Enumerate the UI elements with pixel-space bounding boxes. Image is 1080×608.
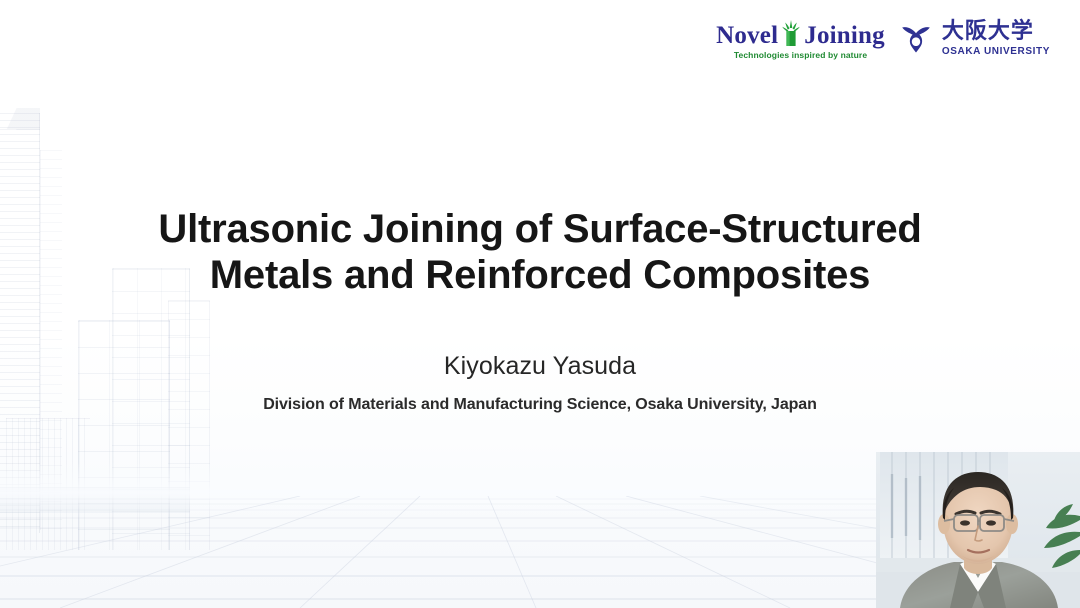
slide-title-line-1: Ultrasonic Joining of Surface-Structured — [90, 206, 990, 252]
osaka-university-name-jp: 大阪大学 — [942, 21, 1050, 43]
osaka-university-wordmark: 大阪大学 OSAKA UNIVERSITY — [942, 21, 1050, 57]
slide-title-line-2: Metals and Reinforced Composites — [90, 252, 990, 298]
novel-joining-word-left: Novel — [716, 23, 778, 48]
slide-title: Ultrasonic Joining of Surface-Structured… — [90, 206, 990, 299]
building-mid-slim — [168, 300, 210, 550]
building-left-tower — [0, 113, 40, 533]
building-horizon-strip — [0, 487, 190, 513]
author-affiliation: Division of Materials and Manufacturing … — [0, 396, 1080, 414]
sprout-plant-icon — [781, 18, 801, 48]
building-left-roof — [0, 108, 40, 130]
presenter-video-thumbnail[interactable] — [876, 452, 1080, 608]
author-name: Kiyokazu Yasuda — [0, 352, 1080, 381]
osaka-university-name-en: OSAKA UNIVERSITY — [942, 47, 1050, 57]
author-block: Kiyokazu Yasuda Division of Materials an… — [0, 352, 1080, 414]
novel-joining-word-right: Joining — [804, 23, 885, 48]
novel-joining-logo: Novel — [716, 18, 885, 60]
osaka-university-mark-icon — [899, 22, 933, 56]
presenter-video-image — [876, 452, 1080, 608]
novel-joining-wordmark: Novel — [716, 18, 885, 48]
logo-bar: Novel — [716, 18, 1050, 60]
title-block: Ultrasonic Joining of Surface-Structured… — [0, 206, 1080, 299]
osaka-university-logo: 大阪大学 OSAKA UNIVERSITY — [899, 21, 1050, 57]
building-mid-low — [6, 418, 90, 550]
novel-joining-tagline: Technologies inspired by nature — [734, 51, 867, 60]
presentation-slide: Novel — [0, 0, 1080, 608]
